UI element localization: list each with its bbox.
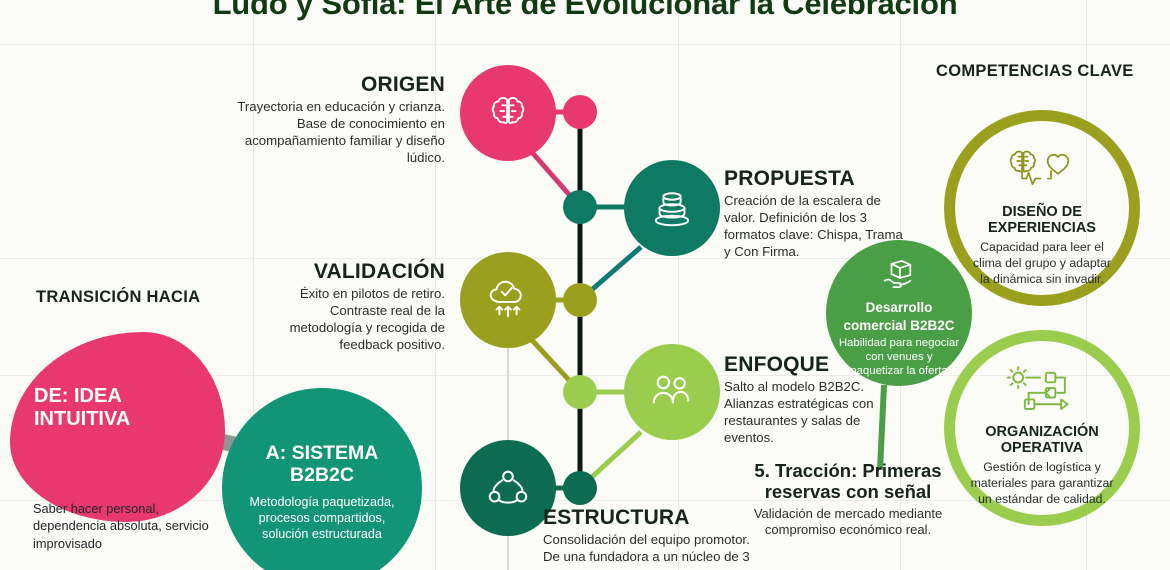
- traccion-title: 5. Tracción: Primeras reservas con señal: [718, 460, 978, 503]
- transition-to-label-line2: B2B2C: [290, 465, 354, 487]
- brain-heart-pulse-icon: [1003, 147, 1081, 198]
- timeline-label-origen: ORIGEN: [230, 74, 445, 96]
- competency-diseno-body: Capacidad para leer el clima del grupo y…: [955, 240, 1129, 288]
- timeline-dot-origen: [563, 95, 597, 129]
- traccion-block: 5. Tracción: Primeras reservas con señal…: [718, 460, 978, 539]
- timeline-text-propuesta: PROPUESTA Creación de la escalera de val…: [724, 168, 904, 261]
- brain-icon: [485, 90, 531, 136]
- timeline-dot-validacion: [563, 283, 597, 317]
- timeline-body-validacion: Éxito en pilotos de retiro. Contraste re…: [255, 286, 445, 354]
- timeline-label-propuesta: PROPUESTA: [724, 168, 904, 190]
- cloud-check-icon: [483, 276, 533, 324]
- gear-workflow-icon: [1002, 365, 1082, 418]
- traccion-body: Validación de mercado mediante compromis…: [718, 506, 978, 540]
- timeline-body-origen: Trayectoria en educación y crianza. Base…: [230, 99, 445, 167]
- competency-organizacion-title-line1: ORGANIZACIÓN: [985, 424, 1099, 440]
- transition-from-label: DE: IDEA INTUITIVA: [34, 385, 214, 431]
- timeline-text-validacion: VALIDACIÓN Éxito en pilotos de retiro. C…: [255, 261, 445, 354]
- people-group-icon: [647, 370, 697, 414]
- timeline-node-enfoque[interactable]: [624, 344, 720, 440]
- transition-to-caption: Metodología paquetizada, procesos compar…: [222, 494, 422, 543]
- transition-heading: TRANSICIÓN HACIA: [36, 288, 200, 307]
- competency-organizacion-title-line2: OPERATIVA: [1001, 440, 1083, 456]
- timeline-dot-propuesta: [563, 190, 597, 224]
- timeline-dot-estructura: [563, 471, 597, 505]
- competency-diseno-title-line1: DISEÑO DE: [1002, 204, 1082, 220]
- transition-from-label-line2: INTUITIVA: [34, 408, 214, 431]
- timeline-dot-enfoque: [563, 375, 597, 409]
- competency-diseno-title-line2: EXPERIENCIAS: [988, 220, 1096, 236]
- timeline-node-origen[interactable]: [460, 65, 556, 161]
- competency-organizacion-body: Gestión de logística y materiales para g…: [955, 460, 1129, 508]
- tiered-cake-icon: [647, 185, 697, 231]
- timeline-body-propuesta: Creación de la escalera de valor. Defini…: [724, 193, 904, 261]
- network-nodes-icon: [483, 464, 533, 512]
- competency-diseno-experiencias[interactable]: DISEÑO DE EXPERIENCIAS Capacidad para le…: [944, 110, 1140, 306]
- timeline-node-estructura[interactable]: [460, 440, 556, 536]
- transition-from-label-line1: DE: IDEA: [34, 385, 214, 408]
- timeline-label-enfoque: ENFOQUE: [724, 354, 904, 376]
- competency-desarrollo-title-line2: comercial B2B2C: [843, 318, 954, 333]
- timeline-body-enfoque: Salto al modelo B2B2C. Alianzas estratég…: [724, 379, 904, 447]
- timeline-text-origen: ORIGEN Trayectoria en educación y crianz…: [230, 74, 445, 167]
- transition-to-label-line1: A: SISTEMA: [266, 443, 379, 465]
- timeline-node-validacion[interactable]: [460, 252, 556, 348]
- competency-desarrollo-title-line1: Desarrollo: [866, 300, 933, 315]
- timeline-node-propuesta[interactable]: [624, 160, 720, 256]
- transition-from-caption: Saber hacer personal, dependencia absolu…: [33, 500, 233, 552]
- timeline-label-validacion: VALIDACIÓN: [255, 261, 445, 283]
- hand-box-icon: [879, 260, 919, 297]
- competencies-heading: COMPETENCIAS CLAVE: [936, 62, 1134, 81]
- page-title: Ludo y Sofía: El Arte de Evolucionar la …: [0, 0, 1170, 22]
- timeline-text-enfoque: ENFOQUE Salto al modelo B2B2C. Alianzas …: [724, 354, 904, 447]
